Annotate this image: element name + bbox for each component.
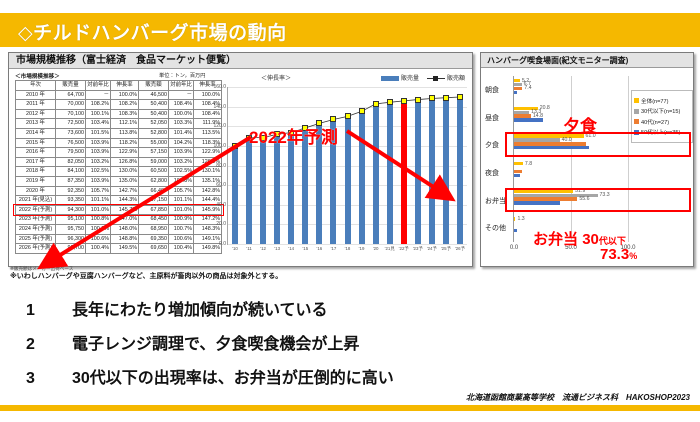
annotation-bento-age-sub: 代以下 [599, 236, 626, 246]
table-cell: 70,000 [56, 100, 86, 110]
bar-value-label: 7.4 [524, 85, 531, 91]
table-caption: ＜市場規模推移＞ [15, 72, 60, 80]
y-axis-tick-label: 140.0 [213, 104, 226, 110]
bar-value-label: 40.0 [562, 137, 572, 143]
legend-item: 40代(n=27) [634, 118, 690, 126]
y-axis-tick-label: 160.0 [213, 84, 226, 90]
table-row: 2011 年70,000108.2%108.2%50,400108.4%108.… [16, 100, 222, 110]
page-title: ◇チルドハンバーグ市場の動向 [18, 18, 287, 45]
legend-swatch-icon [634, 98, 639, 103]
table-cell: 108.2% [111, 100, 139, 110]
bullet-3: 330代以下の出現率は、お弁当が圧倒的に高い [26, 364, 394, 388]
chart-line-marker [373, 101, 379, 107]
chart-line-marker [387, 99, 393, 105]
chart-subtitle: ＜伸長率＞ [261, 73, 291, 82]
chart-hbar [514, 83, 522, 86]
table-col-header: 年次 [16, 81, 56, 91]
bar-value-label: 51.9 [575, 188, 585, 194]
annotation-bento-pct-sub: % [629, 251, 637, 261]
right-panel-header: ハンバーグ喫食場面(紀文モニター調査) [481, 53, 693, 68]
legend-label-sales-volume: 販売量 [401, 76, 419, 82]
annotation-dinner: 夕食 [563, 112, 597, 137]
x-axis-tick-label: '17 [331, 246, 337, 251]
chart-line-marker [401, 98, 407, 104]
chart-hbar [514, 114, 531, 117]
table-col-header: 対前年比 [169, 81, 194, 91]
annotation-2022-forecast: 2022年予測 [249, 123, 338, 148]
market-size-panel: 市場規模推移（富士経済 食品マーケット便覧） ＜市場規模推移＞ 単位：トン，百万… [8, 52, 473, 267]
chart-line-marker [415, 97, 421, 103]
legend-label: 50代以上(n=35) [641, 128, 680, 136]
legend-label: 全体(n=77) [641, 97, 669, 105]
bullet-3-number: 3 [26, 370, 72, 388]
chart-line-marker [429, 95, 435, 101]
table-cell: 108.2% [86, 100, 111, 110]
legend-swatch-icon [634, 109, 639, 114]
table-cell: 2010 年 [16, 90, 56, 100]
annotation-bento-pct-main: 73.3 [600, 246, 629, 263]
legend-item: 50代以上(n=35) [634, 128, 690, 136]
x-axis-tick-label: '16 [317, 246, 323, 251]
table-col-header: 販売額 [139, 81, 169, 91]
chart-hbar [514, 79, 520, 82]
legend-label: 40代(n=27) [641, 118, 669, 126]
legend-swatch-icon [634, 130, 639, 135]
legend-swatch-icon [634, 119, 639, 124]
annotation-bento-pct: 73.3% [600, 246, 637, 263]
red-arrow-to-forecast-bar-icon [339, 119, 559, 259]
red-arrow-to-table-icon [0, 113, 259, 343]
table-header-row: 年次販売量対前年比伸長率販売額対前年比伸長率 [16, 81, 222, 91]
chart-line-marker [359, 108, 365, 114]
bullet-3-text: 30代以下の出現率は、お弁当が圧倒的に高い [72, 370, 394, 387]
bar-value-label: 73.3 [600, 192, 610, 198]
table-cell: － [86, 90, 111, 100]
legend-item: 全体(n=77) [634, 97, 690, 105]
chart-hbar [514, 111, 529, 114]
legend-line-marker-icon [427, 78, 445, 79]
table-cell: 50,400 [139, 100, 169, 110]
chart-vgridline [628, 76, 629, 242]
legend-label: 30代以下(n=15) [641, 107, 680, 115]
bar-value-label: 55.6 [579, 196, 589, 202]
chart-vgridline [571, 76, 572, 242]
chart-line-marker [443, 95, 449, 101]
legend-swatch-bar-icon [381, 76, 399, 81]
chart-hbar [514, 87, 522, 90]
table-cell: 46,500 [139, 90, 169, 100]
legend-item: 30代以下(n=15) [634, 107, 690, 115]
table-col-header: 販売量 [56, 81, 86, 91]
table-row: 2010 年64,700－100.0%46,500－100.0% [16, 90, 222, 100]
table-col-header: 伸長率 [111, 81, 139, 91]
chart-line-marker [330, 116, 336, 122]
category-label: 朝食 [485, 85, 499, 95]
legend-item-sales-value: 販売額 [427, 73, 465, 82]
footer-credit: 北海道函館商業高等学校 流通ビジネス科 HAKOSHOP2023 [466, 392, 690, 403]
table-unit-label: 単位：トン，百万円 [159, 72, 205, 79]
table-cell: 108.4% [169, 100, 194, 110]
legend-label-sales-value: 販売額 [447, 76, 465, 82]
chart-hbar [514, 91, 517, 94]
footer-bar [0, 405, 700, 411]
chart-legend: 販売量 販売額 [381, 73, 465, 82]
table-cell: 100.0% [111, 90, 139, 100]
table-cell: 64,700 [56, 90, 86, 100]
table-cell: 2011 年 [16, 100, 56, 110]
x-axis-tick-label: '13 [274, 246, 280, 251]
x-axis-tick-label: '14 [288, 246, 294, 251]
legend-item-sales-volume: 販売量 [381, 73, 419, 82]
hbar-legend: 全体(n=77)30代以下(n=15)40代(n=27)50代以上(n=35) [631, 90, 693, 143]
table-col-header: 対前年比 [86, 81, 111, 91]
x-axis-tick-label: '15 [302, 246, 308, 251]
table-cell: － [169, 90, 194, 100]
annotation-bento-age-main: 30 [582, 231, 599, 248]
x-axis-tick-label: '12 [260, 246, 266, 251]
left-panel-header: 市場規模推移（富士経済 食品マーケット便覧） [9, 53, 472, 69]
chart-line-marker [457, 94, 463, 100]
